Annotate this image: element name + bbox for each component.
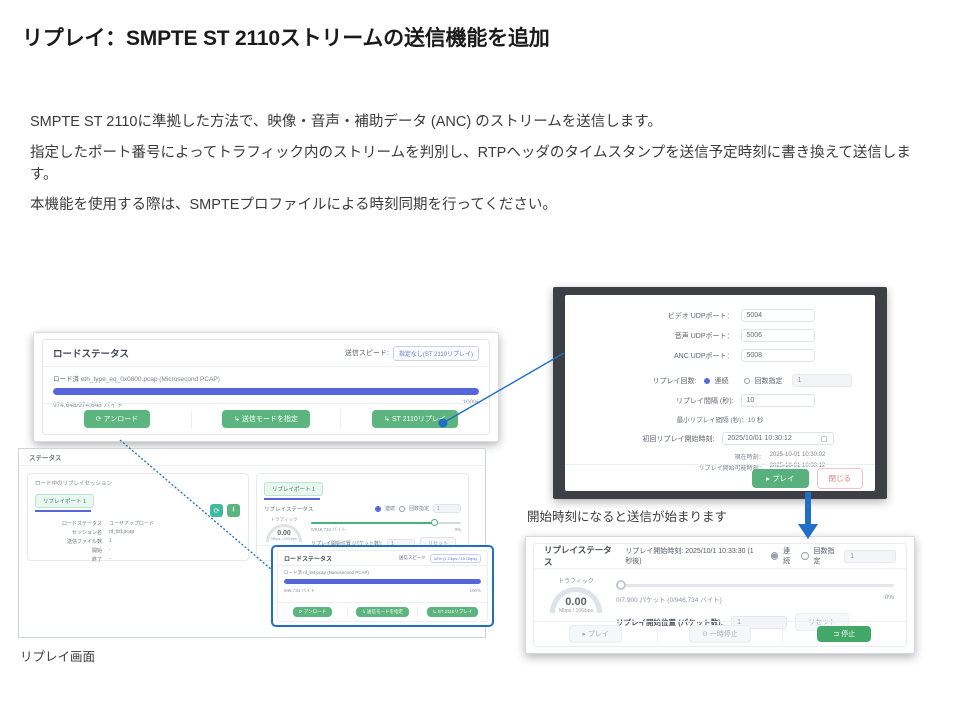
- loaded-file-row: ロード済 eth_type_eq_0x0800.pcap (Microsecon…: [53, 373, 479, 383]
- hl-progress-bar: [284, 579, 481, 584]
- radio-continuous-label: 連続: [385, 505, 395, 512]
- stop-label: 停止: [841, 631, 855, 638]
- paragraph-1: SMPTE ST 2110に準拠した方法で、映像・音声・補助データ (ANC) …: [30, 112, 930, 134]
- loaded-label: ロード済: [53, 376, 79, 383]
- hl-speed-label: 送信スピード: [399, 555, 426, 561]
- arrow-icon: ↳: [234, 416, 240, 423]
- radio-count[interactable]: [801, 552, 809, 560]
- table-row: 終了 -: [28, 556, 242, 563]
- gauge-label: トラフィック: [546, 576, 606, 585]
- stop-button[interactable]: ⊐ 停止: [817, 626, 871, 642]
- first-start-row: 初回リプレイ開始時刻: 2025/10/01 10:30:12 ▢: [565, 432, 875, 445]
- packet-percent: 0%: [454, 527, 461, 533]
- hl-unload-button[interactable]: ⟳ アンロード: [293, 607, 332, 617]
- current-time-value: 2025-10-01 10:30:02: [770, 452, 826, 461]
- interval-label: リプレイ間隔 (秒):: [626, 396, 741, 406]
- loaded-file-name: eth_type_eq_0x0800.pcap (Microsecond PCA…: [81, 376, 220, 383]
- table-row: 開始 -: [28, 547, 242, 554]
- slide-root: リプレイ：SMPTE ST 2110ストリームの送信機能を追加 SMPTE ST…: [0, 0, 960, 720]
- dialog-play-button[interactable]: ▸ プレイ: [752, 469, 808, 488]
- replay-start-time: リプレイ開始時刻: 2025/10/1 10:33:30 (1秒後): [625, 546, 760, 566]
- first-start-value: 2025/10/01 10:30:12: [728, 435, 792, 442]
- load-status-title: ロードステータス: [53, 346, 129, 360]
- audio-port-label: 音声 UDPポート：: [626, 331, 741, 341]
- load-status-header: ロードステータス 送信スピード: 指定なし(ST 2110リプレイ): [43, 340, 489, 367]
- row-key: 送信ファイル数: [28, 538, 109, 545]
- row-value: -: [109, 547, 111, 554]
- replay-status-card: リプレイステータス リプレイ開始時刻: 2025/10/1 10:33:30 (…: [533, 543, 907, 647]
- row-key: ロードステータス: [28, 520, 109, 527]
- count-input[interactable]: 1: [844, 550, 896, 563]
- packet-count: 0/946,734 バイト: [311, 527, 346, 533]
- unload-label: アンロード: [104, 416, 139, 423]
- row-key: 終了: [28, 556, 109, 563]
- replay-session-panel: ロード中のリプレイセッション リプレイポート 1 ロードステータス ユーザアップ…: [27, 473, 249, 561]
- refresh-icon: ⟳: [96, 416, 102, 423]
- hl-send-mode-button[interactable]: ↳ 送信モードを指定: [356, 607, 409, 617]
- replay-progress-slider[interactable]: [616, 584, 894, 587]
- table-row: 送信ファイル数 1: [28, 538, 242, 545]
- st2110-replay-button[interactable]: ↳ ST 2110リプレイ: [372, 410, 458, 428]
- load-progress-bar: [53, 388, 479, 395]
- row-key: 開始: [28, 547, 109, 554]
- replay-status-title: リプレイステータス: [544, 544, 615, 568]
- calendar-icon[interactable]: ▢: [821, 435, 828, 443]
- status-header-label: ステータス: [29, 452, 62, 462]
- count-input[interactable]: 1: [433, 504, 461, 513]
- hl-title: ロードステータス: [284, 554, 332, 563]
- pause-label: 一時停止: [710, 631, 738, 638]
- gauge-value: 0.00: [546, 596, 606, 608]
- replay-mode-radios: 連続 回数指定 1: [771, 546, 896, 566]
- replay-screen: ステータス ロード中のリプレイセッション リプレイポート 1 ロードステータス …: [18, 448, 486, 638]
- anc-port-row: ANC UDPポート： 5008: [565, 349, 875, 362]
- packet-count: 0/7,900 パケット (0/946,734 バイト): [616, 594, 722, 604]
- radio-continuous[interactable]: [771, 552, 779, 560]
- radio-continuous-label: 連続: [715, 376, 729, 386]
- replay-progress-slider[interactable]: [311, 522, 461, 524]
- row-value: ユーザアップロード: [109, 520, 154, 527]
- paragraph-2: 指定したポート番号によってトラフィック内のストリームを判別し、RTPヘッダのタイ…: [30, 143, 930, 187]
- anc-port-input[interactable]: 5008: [741, 349, 815, 362]
- repeat-row: リプレイ回数: 連続 回数指定 1: [565, 374, 875, 387]
- hl-percent: 100%: [469, 588, 481, 594]
- audio-port-input[interactable]: 5006: [741, 329, 815, 342]
- replay-status-header: リプレイステータス リプレイ開始時刻: 2025/10/1 10:33:30 (…: [534, 544, 906, 569]
- interval-row: リプレイ間隔 (秒): 10: [565, 394, 875, 407]
- session-icon-buttons: ⟳ ⭳: [210, 504, 240, 517]
- load-status-actions: ⟳ アンロード ↳ 送信モードを指定 ↳ ST 2110リプレイ: [43, 403, 489, 434]
- audio-port-row: 音声 UDPポート： 5006: [565, 329, 875, 342]
- send-speed-value[interactable]: 指定なし(ST 2110リプレイ): [393, 346, 479, 361]
- replay-mode-radios: 連続 回数指定 1: [375, 504, 461, 513]
- table-row: ロードステータス ユーザアップロード: [28, 520, 242, 527]
- replay-status-row: リプレイステータス 連続 回数指定 1: [257, 500, 468, 513]
- tab-replay-port-1-right[interactable]: リプレイポート 1: [264, 482, 323, 496]
- session-detail-list: ロードステータス ユーザアップロード セッション名 nf_list.pcap 送…: [28, 512, 248, 563]
- unload-button[interactable]: ⟳ アンロード: [84, 410, 151, 428]
- refresh-icon[interactable]: ⟳: [210, 504, 223, 517]
- replay-status-window: リプレイステータス リプレイ開始時刻: 2025/10/1 10:33:30 (…: [525, 536, 915, 654]
- caption-start-time: 開始時刻になると送信が始まります: [527, 506, 727, 525]
- send-mode-label: 送信モードを指定: [242, 416, 298, 423]
- replay-screen-header: ステータス: [19, 449, 485, 466]
- send-speed-label: 送信スピード:: [345, 348, 389, 358]
- st2110-label: ST 2110リプレイ: [392, 416, 446, 423]
- send-mode-button[interactable]: ↳ 送信モードを指定: [222, 410, 310, 428]
- hl-speed-value[interactable]: 10% (1 Gbps / 10 Gbps): [430, 554, 481, 563]
- hl-unload-label: アンロード: [304, 609, 326, 614]
- repeat-radios: 連続 回数指定 1: [704, 374, 852, 387]
- play-label: プレイ: [588, 631, 609, 638]
- st2110-settings-dialog: ビデオ UDPポート： 5004 音声 UDPポート： 5006 ANC UDP…: [553, 287, 887, 499]
- tab-replay-port-1[interactable]: リプレイポート 1: [35, 494, 94, 508]
- repeat-label: リプレイ回数:: [589, 376, 704, 386]
- row-value: 1: [109, 538, 112, 545]
- caption-replay-screen: リプレイ画面: [20, 646, 95, 665]
- first-start-input[interactable]: 2025/10/01 10:30:12 ▢: [722, 432, 834, 445]
- hl-send-mode-label: 送信モードを指定: [367, 609, 403, 614]
- first-start-label: 初回リプレイ開始時刻:: [607, 434, 722, 444]
- gauge-label: トラフィック: [264, 517, 304, 523]
- anc-port-label: ANC UDPポート：: [626, 351, 741, 361]
- send-speed-group: 送信スピード: 指定なし(ST 2110リプレイ): [345, 346, 479, 361]
- row-value: -: [109, 556, 111, 563]
- row-value: nf_list.pcap: [109, 529, 134, 536]
- radio-continuous[interactable]: [704, 378, 710, 384]
- radio-continuous-label: 連続: [783, 546, 796, 566]
- highlighted-load-status-card: ロードステータス 送信スピード 10% (1 Gbps / 10 Gbps) ロ…: [271, 545, 494, 627]
- replay-status-label: リプレイステータス: [264, 505, 313, 513]
- interval-note: 最小リプレイ間隔 (秒)：10 秒: [565, 414, 875, 424]
- video-port-row: ビデオ UDPポート： 5004: [565, 309, 875, 322]
- hl-bytes: 946,734 バイト: [284, 588, 315, 594]
- dialog-inner: ビデオ UDPポート： 5004 音声 UDPポート： 5006 ANC UDP…: [565, 295, 875, 491]
- video-port-input[interactable]: 5004: [741, 309, 815, 322]
- download-icon[interactable]: ⭳: [227, 504, 240, 517]
- pause-button[interactable]: ⊙ 一時停止: [689, 625, 751, 643]
- interval-input[interactable]: 10: [741, 394, 815, 407]
- repeat-count-input[interactable]: 1: [792, 374, 852, 387]
- hl-st2110-label: ST 2110リプレイ: [438, 609, 473, 614]
- radio-continuous[interactable]: [375, 506, 381, 512]
- replay-status-actions: ▸ プレイ ⊙ 一時停止 ⊐ 停止: [534, 621, 906, 646]
- load-status-window: ロードステータス 送信スピード: 指定なし(ST 2110リプレイ) ロード済 …: [33, 332, 499, 442]
- dialog-body: ビデオ UDPポート： 5004 音声 UDPポート： 5006 ANC UDP…: [565, 295, 875, 472]
- traffic-gauge: トラフィック 0.00 Mbps / 10Gbps: [264, 517, 304, 541]
- play-button[interactable]: ▸ プレイ: [569, 625, 621, 643]
- dialog-play-label: プレイ: [772, 474, 795, 483]
- hl-st2110-button[interactable]: ↳ ST 2110リプレイ: [427, 607, 479, 617]
- row-key: セッション名: [28, 529, 109, 536]
- radio-count-label: 回数指定: [814, 546, 840, 566]
- gauge-unit: Mbps / 10Gbps: [264, 537, 304, 541]
- hl-actions: ⟳ アンロード ↳ 送信モードを指定 ↳ ST 2110リプレイ: [278, 602, 487, 621]
- current-time-row: 現在時刻： 2025-10-01 10:30:02: [565, 452, 875, 461]
- gauge-unit: Mbps / 10Gbps: [546, 608, 606, 614]
- gauge-value: 0.00: [264, 530, 304, 537]
- packet-meta: 0/946,734 バイト 0%: [311, 527, 461, 533]
- hl-progress-meta: 946,734 バイト 100%: [284, 588, 481, 594]
- dialog-close-button[interactable]: 閉じる: [817, 468, 864, 489]
- arrow-icon: ↳: [384, 416, 390, 423]
- dialog-actions: ▸ プレイ 閉じる: [565, 464, 875, 491]
- hl-file-name: ロード済 nf_list.pcap (Nanosecond PCAP): [284, 570, 481, 576]
- load-status-card: ロードステータス 送信スピード: 指定なし(ST 2110リプレイ) ロード済 …: [42, 339, 490, 435]
- packet-meta: 0/7,900 パケット (0/946,734 バイト) 0%: [616, 594, 894, 604]
- radio-count[interactable]: [399, 506, 405, 512]
- body-text: SMPTE ST 2110に準拠した方法で、映像・音声・補助データ (ANC) …: [30, 112, 930, 226]
- table-row: セッション名 nf_list.pcap: [28, 529, 242, 536]
- radio-count[interactable]: [744, 378, 750, 384]
- current-time-label: 現在時刻：: [615, 452, 770, 461]
- slider-knob[interactable]: [616, 580, 626, 590]
- packet-percent: 0%: [885, 594, 894, 604]
- radio-count-label: 回数指定: [755, 376, 783, 386]
- radio-count-label: 回数指定: [409, 505, 429, 512]
- page-title: リプレイ：SMPTE ST 2110ストリームの送信機能を追加: [22, 22, 550, 52]
- hl-header: ロードステータス 送信スピード 10% (1 Gbps / 10 Gbps): [278, 551, 487, 566]
- video-port-label: ビデオ UDPポート：: [626, 311, 741, 321]
- paragraph-3: 本機能を使用する際は、SMPTEプロファイルによる時刻同期を行ってください。: [30, 195, 930, 217]
- replay-session-header: ロード中のリプレイセッション: [28, 474, 248, 490]
